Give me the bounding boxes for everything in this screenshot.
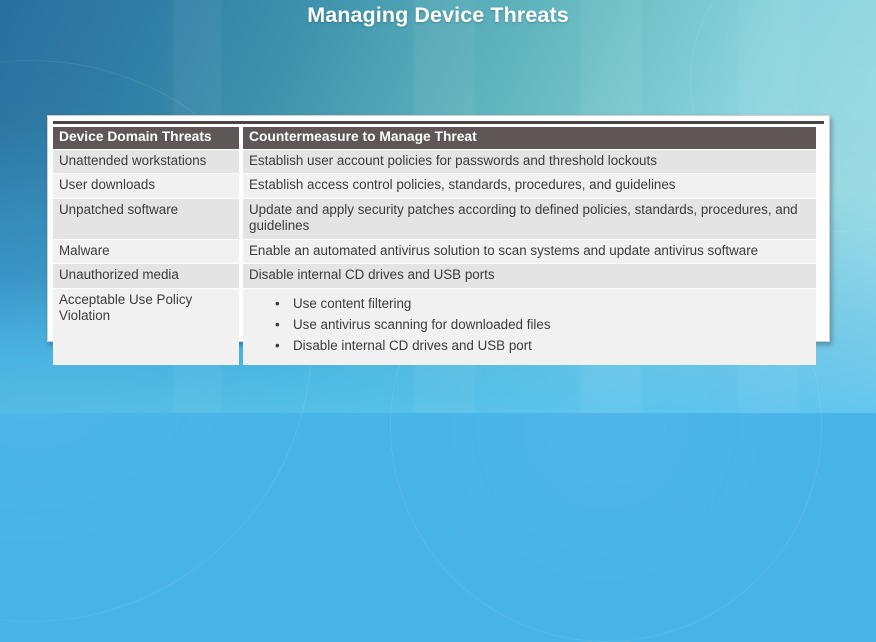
table-row: Acceptable Use Policy Violation •Use con… xyxy=(53,289,816,365)
list-item-label: Use content filtering xyxy=(293,296,411,311)
cell-countermeasure: Update and apply security patches accord… xyxy=(243,199,816,239)
table-body: Unattended workstations Establish user a… xyxy=(53,150,816,365)
threat-table: Device Domain Threats Countermeasure to … xyxy=(49,126,820,366)
table-row: Unattended workstations Establish user a… xyxy=(53,150,816,174)
bullet-icon: • xyxy=(275,294,280,313)
column-header-threat: Device Domain Threats xyxy=(53,127,239,149)
cell-countermeasure: Establish user account policies for pass… xyxy=(243,150,816,174)
cell-threat: Acceptable Use Policy Violation xyxy=(53,289,239,365)
cell-countermeasure: Enable an automated antivirus solution t… xyxy=(243,240,816,264)
page-title: Managing Device Threats xyxy=(0,3,876,28)
list-item: •Use content filtering xyxy=(275,294,810,315)
table-row: User downloads Establish access control … xyxy=(53,174,816,198)
table-row: Unauthorized media Disable internal CD d… xyxy=(53,264,816,288)
column-header-countermeasure: Countermeasure to Manage Threat xyxy=(243,127,816,149)
cell-threat: Malware xyxy=(53,240,239,264)
table-row: Malware Enable an automated antivirus so… xyxy=(53,240,816,264)
cell-threat: User downloads xyxy=(53,174,239,198)
table-header: Device Domain Threats Countermeasure to … xyxy=(53,127,816,149)
cell-countermeasure: Establish access control policies, stand… xyxy=(243,174,816,198)
cell-countermeasure-bullets: •Use content filtering •Use antivirus sc… xyxy=(243,289,816,365)
threat-table-card: Device Domain Threats Countermeasure to … xyxy=(47,115,830,342)
cell-countermeasure: Disable internal CD drives and USB ports xyxy=(243,264,816,288)
list-item-label: Use antivirus scanning for downloaded fi… xyxy=(293,317,551,332)
bullet-icon: • xyxy=(275,315,280,334)
table-top-rule xyxy=(53,121,824,124)
table-header-row: Device Domain Threats Countermeasure to … xyxy=(53,127,816,149)
list-item: •Use antivirus scanning for downloaded f… xyxy=(275,315,810,336)
table-row: Unpatched software Update and apply secu… xyxy=(53,199,816,239)
cell-threat: Unauthorized media xyxy=(53,264,239,288)
cell-threat: Unattended workstations xyxy=(53,150,239,174)
list-item: •Disable internal CD drives and USB port xyxy=(275,336,810,357)
countermeasure-bullet-list: •Use content filtering •Use antivirus sc… xyxy=(249,294,810,357)
bullet-icon: • xyxy=(275,336,280,355)
cell-threat: Unpatched software xyxy=(53,199,239,239)
list-item-label: Disable internal CD drives and USB port xyxy=(293,338,532,353)
